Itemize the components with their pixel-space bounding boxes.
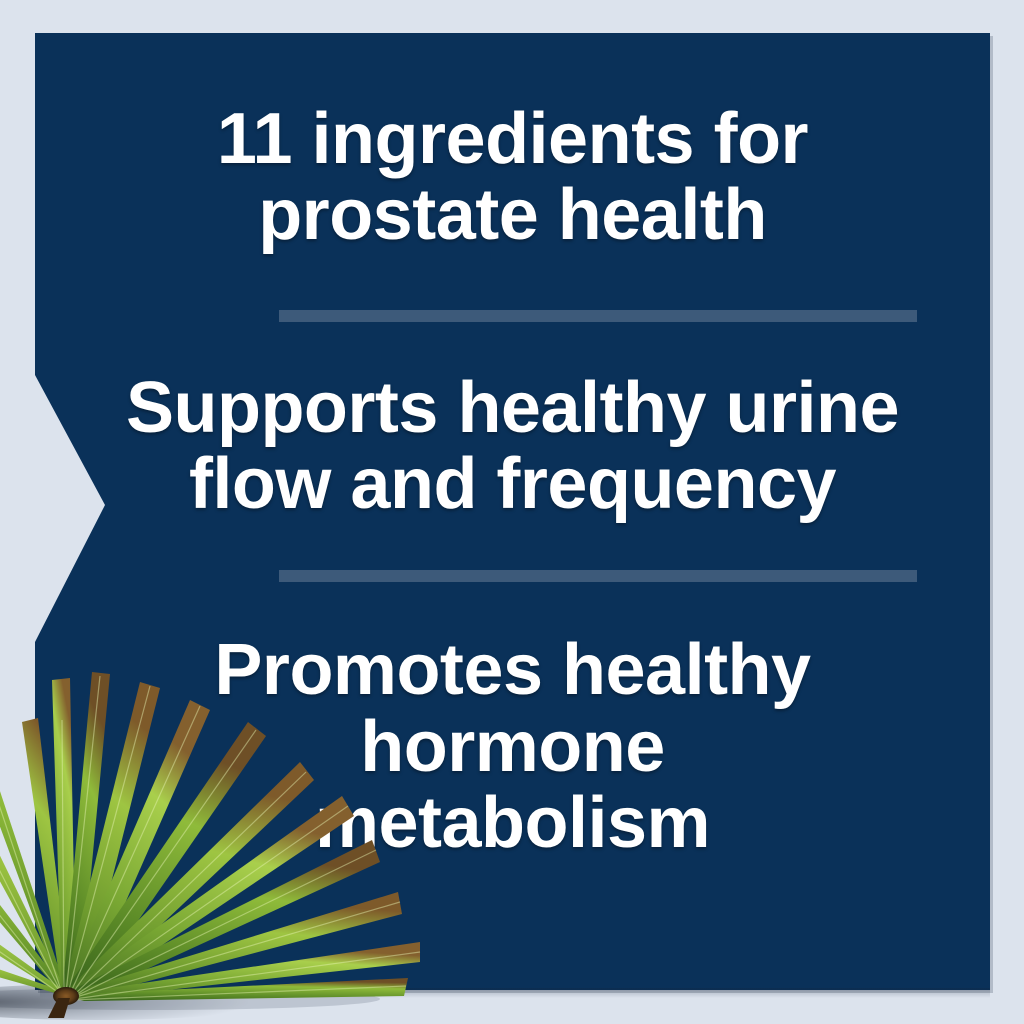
poster-canvas: 11 ingredients for prostate health Suppo… — [0, 0, 1024, 1024]
divider-rule-1 — [279, 310, 917, 322]
benefits-content: 11 ingredients for prostate health Suppo… — [35, 33, 990, 990]
benefit-text-ingredients: 11 ingredients for prostate health — [35, 101, 990, 254]
panel-bottom-shadow — [40, 988, 990, 998]
benefit-text-hormone-metabolism: Promotes healthy hormone metabolism — [35, 632, 990, 861]
divider-rule-2 — [279, 570, 917, 582]
benefit-text-urine-flow: Supports healthy urine flow and frequenc… — [35, 370, 990, 523]
